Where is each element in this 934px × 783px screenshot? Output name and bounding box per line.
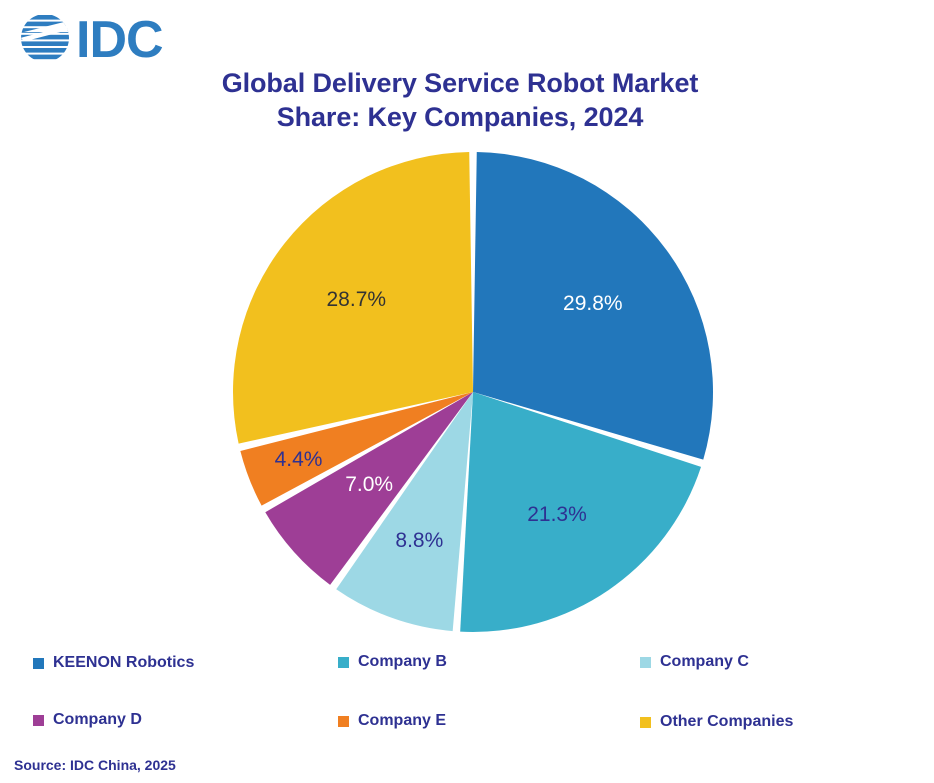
legend-item-company-c[interactable]: Company C — [640, 653, 749, 671]
legend-swatch-icon — [338, 657, 349, 668]
legend-label: Company C — [660, 653, 749, 671]
legend-item-keenon-robotics[interactable]: KEENON Robotics — [33, 654, 194, 672]
legend-item-company-b[interactable]: Company B — [338, 653, 447, 671]
legend-item-other-companies[interactable]: Other Companies — [640, 713, 793, 731]
idc-globe-icon — [20, 15, 72, 59]
legend-item-company-e[interactable]: Company E — [338, 712, 446, 730]
legend-swatch-icon — [640, 657, 651, 668]
pie-slice-label: 29.8% — [563, 292, 623, 316]
idc-logo-svg: IDC — [18, 12, 208, 64]
chart-page: IDC Global Delivery Service Robot Market… — [0, 0, 934, 783]
legend-label: Company B — [358, 653, 447, 671]
idc-logo-wordmark: IDC — [76, 12, 163, 64]
legend-swatch-icon — [33, 715, 44, 726]
page-title: Global Delivery Service Robot Market Sha… — [130, 66, 790, 134]
legend-label: Company E — [358, 712, 446, 730]
pie-chart-svg — [0, 130, 934, 640]
pie-slice-label: 21.3% — [527, 503, 587, 527]
pie-slice-label: 8.8% — [395, 529, 443, 553]
idc-logo: IDC — [18, 12, 208, 64]
pie-slice-label: 7.0% — [345, 473, 393, 497]
legend-swatch-icon — [33, 658, 44, 669]
legend-swatch-icon — [640, 717, 651, 728]
legend-label: Company D — [53, 711, 142, 729]
pie-slice-label: 28.7% — [327, 288, 387, 312]
legend-label: Other Companies — [660, 713, 793, 731]
page-title-line-2: Share: Key Companies, 2024 — [130, 100, 790, 134]
legend-swatch-icon — [338, 716, 349, 727]
legend-item-company-d[interactable]: Company D — [33, 711, 142, 729]
source-note: Source: IDC China, 2025 — [14, 757, 176, 773]
legend-label: KEENON Robotics — [53, 654, 194, 672]
page-title-line-1: Global Delivery Service Robot Market — [130, 66, 790, 100]
pie-chart: 29.8%21.3%8.8%7.0%4.4%28.7% — [0, 130, 934, 640]
chart-legend: KEENON Robotics Company B Company C Comp… — [0, 640, 934, 740]
pie-slice-label: 4.4% — [275, 448, 323, 472]
